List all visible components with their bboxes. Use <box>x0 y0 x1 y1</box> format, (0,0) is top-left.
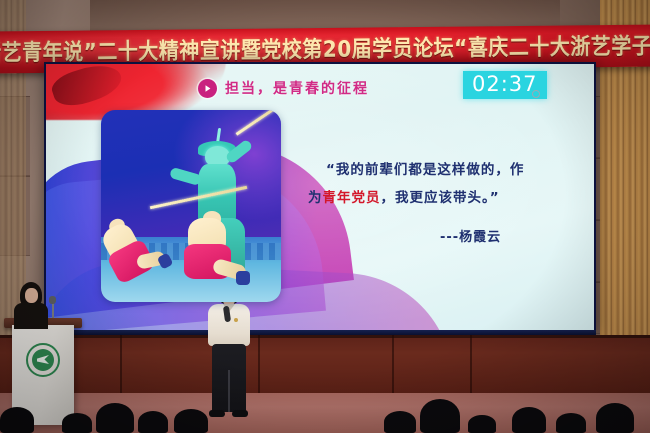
audience-head <box>138 411 168 433</box>
audience-head <box>96 403 134 433</box>
stage-backdrop-seam <box>120 335 122 395</box>
stage-speaker-person <box>198 288 260 428</box>
audience-head <box>556 413 586 433</box>
presentation-slide: 担当，是青春的征程 02:37 <box>46 64 594 332</box>
audience-head <box>62 413 92 433</box>
speaker-left-shoe <box>209 410 225 417</box>
institution-emblem-mark <box>32 349 54 371</box>
auditorium-scene: 艺术职业学院“浙艺青年说”二十大精神宣讲暨党校第20届学员论坛“喜庆二十大浙艺学… <box>0 0 650 433</box>
audience-head <box>174 409 208 433</box>
speaker-lapel-badge <box>234 318 238 322</box>
quote-line-2-post: ，我更应该带头。” <box>381 190 500 206</box>
countdown-timer-value: 02:37 <box>472 72 538 96</box>
slide-quote: “我的前辈们都是这样做的，作 为青年党员，我更应该带头。” ---杨霞云 <box>308 156 570 245</box>
opera-performance-photo <box>101 110 281 302</box>
acrobat-figure-right <box>184 218 256 295</box>
audience-head <box>384 411 416 433</box>
slide-heading-text: 担当，是青春的征程 <box>225 78 369 98</box>
quote-line-2-pre: 为 <box>308 190 323 206</box>
projection-screen: 担当，是青春的征程 02:37 <box>44 62 596 334</box>
stage-backdrop <box>0 335 650 395</box>
acrobat-right-boot <box>236 271 250 285</box>
quote-highlight: 青年党员 <box>323 190 381 206</box>
stage-backdrop-seam <box>470 335 472 395</box>
podium-host-face <box>25 288 38 303</box>
play-icon <box>198 79 217 98</box>
slide-heading: 担当，是青春的征程 <box>198 78 369 98</box>
audience-head <box>596 403 634 433</box>
audience-head <box>468 415 496 433</box>
audience-head <box>512 407 546 433</box>
speaker-right-shoe <box>232 410 248 417</box>
institution-emblem-icon <box>26 343 60 377</box>
quote-attribution: ---杨霞云 <box>308 226 570 245</box>
stage-backdrop-seam <box>392 335 394 395</box>
quote-line-1: “我的前辈们都是这样做的，作 <box>308 156 570 184</box>
slide-corner-dot <box>532 90 540 98</box>
quote-line-2: 为青年党员，我更应该带头。” <box>308 184 570 212</box>
audience-head <box>420 399 460 433</box>
podium-host-person <box>10 282 54 326</box>
stage-backdrop-edge <box>0 335 650 338</box>
speaker-trouser-crease <box>228 370 230 412</box>
audience-head <box>0 407 34 433</box>
podium-host-body <box>14 303 48 329</box>
